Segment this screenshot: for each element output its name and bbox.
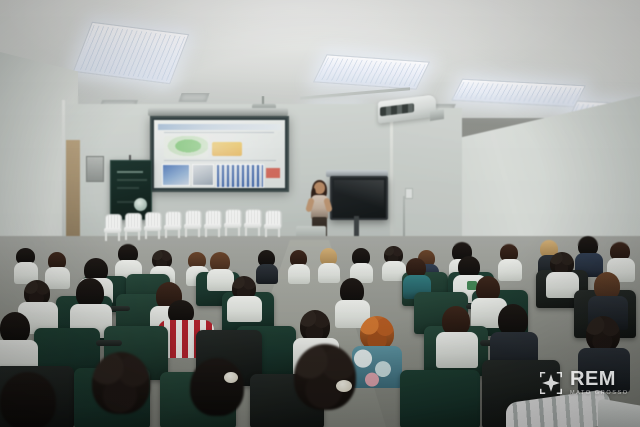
foreground-audience-head <box>190 358 244 416</box>
projection-screen <box>150 116 289 192</box>
wall-panel-box <box>86 156 104 182</box>
slide-legend-block <box>212 142 242 156</box>
auditorium-seat <box>400 370 480 427</box>
ceiling-vent <box>178 93 209 102</box>
ac-mount <box>430 109 444 121</box>
plastic-chair <box>244 209 261 235</box>
screen-roller <box>148 108 288 116</box>
plastic-chair <box>184 210 201 236</box>
seat-armrest <box>96 340 122 346</box>
ceiling <box>0 0 640 118</box>
plastic-chair <box>144 212 161 238</box>
plastic-chair <box>204 210 221 236</box>
slide-bar-chart <box>216 164 264 188</box>
hair-clip <box>336 380 352 392</box>
foreground-audience-head <box>294 344 356 410</box>
slide-photo-thumbnail <box>162 164 190 186</box>
projection-screen-surface <box>154 120 285 188</box>
slide-map-graphic <box>164 136 208 158</box>
slide-accent-block <box>266 168 280 178</box>
plastic-chair <box>164 211 181 237</box>
slide-header-band <box>158 124 281 130</box>
foreground-audience-head <box>0 372 56 427</box>
television-display <box>330 176 388 220</box>
foreground-audience-head <box>92 352 150 414</box>
auditorium-photo: REM MATO GROSSO <box>0 0 640 427</box>
plastic-chair <box>264 210 281 236</box>
ac-grille <box>380 103 414 116</box>
slide-photo-thumbnail <box>192 164 214 186</box>
tv-stand <box>354 216 359 238</box>
hair-clip <box>224 372 238 383</box>
door-frame <box>66 140 80 236</box>
foreground-plastic-chair <box>506 392 636 427</box>
wall-switch <box>405 188 413 199</box>
plastic-chair <box>224 209 241 235</box>
poster-badge <box>134 198 147 211</box>
plastic-chair <box>124 213 141 239</box>
wall-poster <box>110 160 152 220</box>
plastic-chair <box>104 214 121 240</box>
